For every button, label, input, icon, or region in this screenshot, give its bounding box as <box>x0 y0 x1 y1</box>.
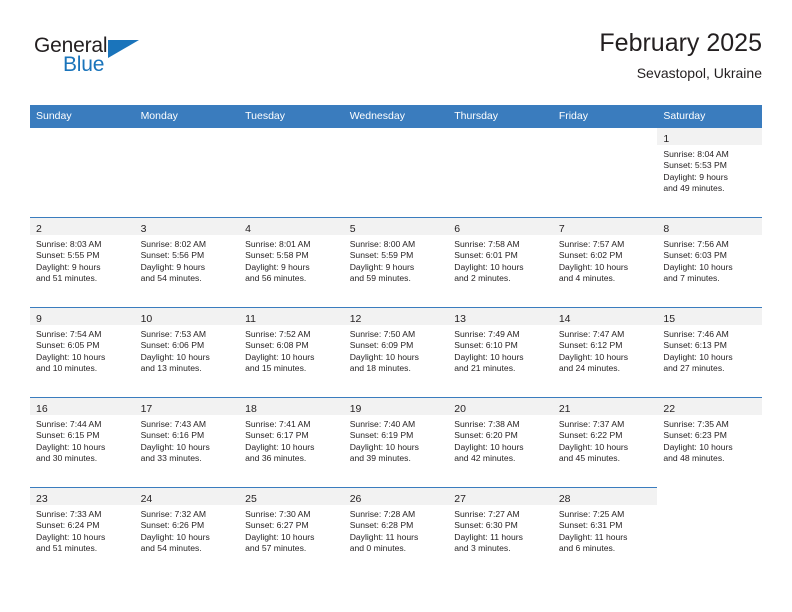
daylight-text-line1: Daylight: 9 hours <box>36 262 130 273</box>
calendar-cell-empty <box>135 128 240 218</box>
calendar-day-cell[interactable]: 17Sunrise: 7:43 AMSunset: 6:16 PMDayligh… <box>135 398 240 488</box>
day-number: 16 <box>36 403 48 415</box>
day-cell-inner: 15Sunrise: 7:46 AMSunset: 6:13 PMDayligh… <box>657 308 762 397</box>
sunrise-text: Sunrise: 7:38 AM <box>454 419 548 430</box>
day-number-band: 3 <box>135 218 240 235</box>
daylight-text-line1: Daylight: 10 hours <box>663 442 757 453</box>
day-cell-inner: 3Sunrise: 8:02 AMSunset: 5:56 PMDaylight… <box>135 218 240 307</box>
day-cell-details: Sunrise: 7:38 AMSunset: 6:20 PMDaylight:… <box>448 415 553 465</box>
day-cell-details: Sunrise: 7:47 AMSunset: 6:12 PMDaylight:… <box>553 325 658 375</box>
day-number: 15 <box>663 313 675 325</box>
day-number: 12 <box>350 313 362 325</box>
sunrise-text: Sunrise: 7:49 AM <box>454 329 548 340</box>
daylight-text-line1: Daylight: 10 hours <box>559 442 653 453</box>
day-number-band: 6 <box>448 218 553 235</box>
day-cell-details: Sunrise: 8:03 AMSunset: 5:55 PMDaylight:… <box>30 235 135 285</box>
daylight-text-line2: and 0 minutes. <box>350 543 444 554</box>
day-cell-details: Sunrise: 7:46 AMSunset: 6:13 PMDaylight:… <box>657 325 762 375</box>
sunrise-text: Sunrise: 8:00 AM <box>350 239 444 250</box>
day-cell-inner: 5Sunrise: 8:00 AMSunset: 5:59 PMDaylight… <box>344 218 449 307</box>
day-cell-inner: 16Sunrise: 7:44 AMSunset: 6:15 PMDayligh… <box>30 398 135 487</box>
calendar-cell-empty <box>553 128 658 218</box>
sunset-text: Sunset: 6:20 PM <box>454 430 548 441</box>
daylight-text-line2: and 51 minutes. <box>36 273 130 284</box>
day-cell-inner: 8Sunrise: 7:56 AMSunset: 6:03 PMDaylight… <box>657 218 762 307</box>
day-number: 1 <box>663 133 669 145</box>
weekday-header-friday: Friday <box>553 105 658 128</box>
day-number-band: 20 <box>448 398 553 415</box>
calendar-day-cell[interactable]: 23Sunrise: 7:33 AMSunset: 6:24 PMDayligh… <box>30 488 135 578</box>
sunrise-text: Sunrise: 7:58 AM <box>454 239 548 250</box>
day-number: 28 <box>559 493 571 505</box>
day-number: 13 <box>454 313 466 325</box>
day-number-band: 1 <box>657 128 762 145</box>
day-number: 14 <box>559 313 571 325</box>
calendar-day-cell[interactable]: 27Sunrise: 7:27 AMSunset: 6:30 PMDayligh… <box>448 488 553 578</box>
day-cell-details: Sunrise: 7:40 AMSunset: 6:19 PMDaylight:… <box>344 415 449 465</box>
day-cell-details: Sunrise: 7:25 AMSunset: 6:31 PMDaylight:… <box>553 505 658 555</box>
calendar-cell-empty <box>344 128 449 218</box>
calendar-day-cell[interactable]: 26Sunrise: 7:28 AMSunset: 6:28 PMDayligh… <box>344 488 449 578</box>
daylight-text-line2: and 7 minutes. <box>663 273 757 284</box>
day-number-band: 7 <box>553 218 658 235</box>
day-cell-details: Sunrise: 7:57 AMSunset: 6:02 PMDaylight:… <box>553 235 658 285</box>
day-number-band: 21 <box>553 398 658 415</box>
day-number: 19 <box>350 403 362 415</box>
calendar-cell-empty <box>448 128 553 218</box>
day-number-band: 15 <box>657 308 762 325</box>
day-number-band: 16 <box>30 398 135 415</box>
day-cell-inner: 28Sunrise: 7:25 AMSunset: 6:31 PMDayligh… <box>553 488 658 577</box>
day-number-band: 28 <box>553 488 658 505</box>
day-number: 27 <box>454 493 466 505</box>
day-cell-details: Sunrise: 7:33 AMSunset: 6:24 PMDaylight:… <box>30 505 135 555</box>
sunrise-text: Sunrise: 7:54 AM <box>36 329 130 340</box>
day-cell-details: Sunrise: 7:30 AMSunset: 6:27 PMDaylight:… <box>239 505 344 555</box>
calendar-day-cell[interactable]: 14Sunrise: 7:47 AMSunset: 6:12 PMDayligh… <box>553 308 658 398</box>
sunrise-text: Sunrise: 7:43 AM <box>141 419 235 430</box>
sunset-text: Sunset: 5:55 PM <box>36 250 130 261</box>
day-cell-details: Sunrise: 7:37 AMSunset: 6:22 PMDaylight:… <box>553 415 658 465</box>
day-number-band: 18 <box>239 398 344 415</box>
calendar-day-cell[interactable]: 3Sunrise: 8:02 AMSunset: 5:56 PMDaylight… <box>135 218 240 308</box>
sunrise-text: Sunrise: 7:56 AM <box>663 239 757 250</box>
day-number-band: 14 <box>553 308 658 325</box>
daylight-text-line1: Daylight: 11 hours <box>350 532 444 543</box>
weekday-header-monday: Monday <box>135 105 240 128</box>
day-number: 21 <box>559 403 571 415</box>
sunset-text: Sunset: 6:05 PM <box>36 340 130 351</box>
calendar-day-cell[interactable]: 12Sunrise: 7:50 AMSunset: 6:09 PMDayligh… <box>344 308 449 398</box>
sunset-text: Sunset: 6:19 PM <box>350 430 444 441</box>
daylight-text-line1: Daylight: 10 hours <box>141 442 235 453</box>
day-cell-details: Sunrise: 7:44 AMSunset: 6:15 PMDaylight:… <box>30 415 135 465</box>
sunrise-text: Sunrise: 8:03 AM <box>36 239 130 250</box>
sunset-text: Sunset: 6:31 PM <box>559 520 653 531</box>
day-cell-details: Sunrise: 8:00 AMSunset: 5:59 PMDaylight:… <box>344 235 449 285</box>
day-cell-details: Sunrise: 7:28 AMSunset: 6:28 PMDaylight:… <box>344 505 449 555</box>
day-number: 26 <box>350 493 362 505</box>
calendar-day-cell[interactable]: 7Sunrise: 7:57 AMSunset: 6:02 PMDaylight… <box>553 218 658 308</box>
day-number: 3 <box>141 223 147 235</box>
sunset-text: Sunset: 6:12 PM <box>559 340 653 351</box>
daylight-text-line2: and 27 minutes. <box>663 363 757 374</box>
sunrise-text: Sunrise: 7:33 AM <box>36 509 130 520</box>
logo-triangle-icon <box>108 40 139 58</box>
day-cell-inner: 22Sunrise: 7:35 AMSunset: 6:23 PMDayligh… <box>657 398 762 487</box>
calendar-day-cell[interactable]: 11Sunrise: 7:52 AMSunset: 6:08 PMDayligh… <box>239 308 344 398</box>
sunrise-text: Sunrise: 8:01 AM <box>245 239 339 250</box>
sunrise-text: Sunrise: 7:40 AM <box>350 419 444 430</box>
title-block: February 2025 Sevastopol, Ukraine <box>599 28 762 83</box>
day-cell-details: Sunrise: 7:53 AMSunset: 6:06 PMDaylight:… <box>135 325 240 375</box>
calendar-day-cell[interactable]: 1Sunrise: 8:04 AMSunset: 5:53 PMDaylight… <box>657 128 762 218</box>
sunset-text: Sunset: 6:16 PM <box>141 430 235 441</box>
daylight-text-line2: and 42 minutes. <box>454 453 548 464</box>
day-cell-details: Sunrise: 7:54 AMSunset: 6:05 PMDaylight:… <box>30 325 135 375</box>
day-cell-details: Sunrise: 8:04 AMSunset: 5:53 PMDaylight:… <box>657 145 762 195</box>
calendar-day-cell[interactable]: 16Sunrise: 7:44 AMSunset: 6:15 PMDayligh… <box>30 398 135 488</box>
calendar-day-cell[interactable]: 4Sunrise: 8:01 AMSunset: 5:58 PMDaylight… <box>239 218 344 308</box>
day-cell-details: Sunrise: 7:52 AMSunset: 6:08 PMDaylight:… <box>239 325 344 375</box>
calendar-day-cell[interactable]: 15Sunrise: 7:46 AMSunset: 6:13 PMDayligh… <box>657 308 762 398</box>
daylight-text-line2: and 59 minutes. <box>350 273 444 284</box>
day-number: 20 <box>454 403 466 415</box>
day-number-band: 19 <box>344 398 449 415</box>
daylight-text-line2: and 48 minutes. <box>663 453 757 464</box>
calendar-week-row: 1Sunrise: 8:04 AMSunset: 5:53 PMDaylight… <box>30 128 762 218</box>
calendar-body: 1Sunrise: 8:04 AMSunset: 5:53 PMDaylight… <box>30 128 762 578</box>
sunset-text: Sunset: 6:10 PM <box>454 340 548 351</box>
calendar-cell-empty <box>657 488 762 578</box>
day-cell-details: Sunrise: 7:27 AMSunset: 6:30 PMDaylight:… <box>448 505 553 555</box>
daylight-text-line1: Daylight: 10 hours <box>454 442 548 453</box>
day-cell-inner: 14Sunrise: 7:47 AMSunset: 6:12 PMDayligh… <box>553 308 658 397</box>
calendar-week-row: 16Sunrise: 7:44 AMSunset: 6:15 PMDayligh… <box>30 398 762 488</box>
day-cell-details: Sunrise: 7:50 AMSunset: 6:09 PMDaylight:… <box>344 325 449 375</box>
day-cell-inner: 17Sunrise: 7:43 AMSunset: 6:16 PMDayligh… <box>135 398 240 487</box>
day-cell-details: Sunrise: 7:41 AMSunset: 6:17 PMDaylight:… <box>239 415 344 465</box>
day-number: 22 <box>663 403 675 415</box>
daylight-text-line1: Daylight: 10 hours <box>559 352 653 363</box>
daylight-text-line1: Daylight: 10 hours <box>36 532 130 543</box>
day-number: 7 <box>559 223 565 235</box>
daylight-text-line2: and 33 minutes. <box>141 453 235 464</box>
sunset-text: Sunset: 6:27 PM <box>245 520 339 531</box>
calendar-day-cell[interactable]: 22Sunrise: 7:35 AMSunset: 6:23 PMDayligh… <box>657 398 762 488</box>
sunset-text: Sunset: 6:03 PM <box>663 250 757 261</box>
page-header: General Blue February 2025 Sevastopol, U… <box>30 28 762 96</box>
day-cell-inner: 20Sunrise: 7:38 AMSunset: 6:20 PMDayligh… <box>448 398 553 487</box>
daylight-text-line2: and 10 minutes. <box>36 363 130 374</box>
sunrise-text: Sunrise: 7:47 AM <box>559 329 653 340</box>
daylight-text-line2: and 51 minutes. <box>36 543 130 554</box>
sunrise-text: Sunrise: 7:30 AM <box>245 509 339 520</box>
sunset-text: Sunset: 6:13 PM <box>663 340 757 351</box>
day-cell-inner: 21Sunrise: 7:37 AMSunset: 6:22 PMDayligh… <box>553 398 658 487</box>
day-cell-inner: 19Sunrise: 7:40 AMSunset: 6:19 PMDayligh… <box>344 398 449 487</box>
day-cell-inner: 18Sunrise: 7:41 AMSunset: 6:17 PMDayligh… <box>239 398 344 487</box>
sunset-text: Sunset: 6:09 PM <box>350 340 444 351</box>
day-number-band: 22 <box>657 398 762 415</box>
day-cell-details: Sunrise: 7:49 AMSunset: 6:10 PMDaylight:… <box>448 325 553 375</box>
day-number: 10 <box>141 313 153 325</box>
sunset-text: Sunset: 5:58 PM <box>245 250 339 261</box>
calendar-day-cell[interactable]: 9Sunrise: 7:54 AMSunset: 6:05 PMDaylight… <box>30 308 135 398</box>
daylight-text-line1: Daylight: 10 hours <box>141 532 235 543</box>
daylight-text-line2: and 56 minutes. <box>245 273 339 284</box>
sunrise-text: Sunrise: 7:53 AM <box>141 329 235 340</box>
day-cell-inner: 26Sunrise: 7:28 AMSunset: 6:28 PMDayligh… <box>344 488 449 577</box>
sunrise-text: Sunrise: 7:37 AM <box>559 419 653 430</box>
calendar-day-cell[interactable]: 5Sunrise: 8:00 AMSunset: 5:59 PMDaylight… <box>344 218 449 308</box>
daylight-text-line1: Daylight: 9 hours <box>663 172 757 183</box>
day-number-band: 9 <box>30 308 135 325</box>
day-cell-details: Sunrise: 7:35 AMSunset: 6:23 PMDaylight:… <box>657 415 762 465</box>
daylight-text-line1: Daylight: 10 hours <box>350 352 444 363</box>
weekday-header-thursday: Thursday <box>448 105 553 128</box>
sunset-text: Sunset: 5:59 PM <box>350 250 444 261</box>
daylight-text-line2: and 4 minutes. <box>559 273 653 284</box>
calendar-cell-empty <box>30 128 135 218</box>
sunrise-text: Sunrise: 8:02 AM <box>141 239 235 250</box>
day-cell-inner: 4Sunrise: 8:01 AMSunset: 5:58 PMDaylight… <box>239 218 344 307</box>
daylight-text-line2: and 2 minutes. <box>454 273 548 284</box>
sunset-text: Sunset: 6:28 PM <box>350 520 444 531</box>
daylight-text-line1: Daylight: 9 hours <box>141 262 235 273</box>
day-cell-details: Sunrise: 7:43 AMSunset: 6:16 PMDaylight:… <box>135 415 240 465</box>
calendar-day-cell[interactable]: 24Sunrise: 7:32 AMSunset: 6:26 PMDayligh… <box>135 488 240 578</box>
weekday-header-sunday: Sunday <box>30 105 135 128</box>
weekday-header-tuesday: Tuesday <box>239 105 344 128</box>
day-cell-details: Sunrise: 7:32 AMSunset: 6:26 PMDaylight:… <box>135 505 240 555</box>
daylight-text-line1: Daylight: 10 hours <box>454 352 548 363</box>
day-number-band: 25 <box>239 488 344 505</box>
daylight-text-line1: Daylight: 10 hours <box>245 532 339 543</box>
day-cell-inner: 11Sunrise: 7:52 AMSunset: 6:08 PMDayligh… <box>239 308 344 397</box>
day-cell-inner: 25Sunrise: 7:30 AMSunset: 6:27 PMDayligh… <box>239 488 344 577</box>
day-number-band: 27 <box>448 488 553 505</box>
weekday-header-row: Sunday Monday Tuesday Wednesday Thursday… <box>30 105 762 128</box>
daylight-text-line2: and 24 minutes. <box>559 363 653 374</box>
calendar-day-cell[interactable]: 10Sunrise: 7:53 AMSunset: 6:06 PMDayligh… <box>135 308 240 398</box>
sunset-text: Sunset: 6:08 PM <box>245 340 339 351</box>
day-number-band: 13 <box>448 308 553 325</box>
daylight-text-line2: and 54 minutes. <box>141 543 235 554</box>
general-blue-logo[interactable]: General Blue <box>34 34 204 88</box>
calendar-day-cell[interactable]: 19Sunrise: 7:40 AMSunset: 6:19 PMDayligh… <box>344 398 449 488</box>
location-subtitle: Sevastopol, Ukraine <box>599 63 762 83</box>
sunset-text: Sunset: 6:22 PM <box>559 430 653 441</box>
daylight-text-line1: Daylight: 11 hours <box>559 532 653 543</box>
sunrise-text: Sunrise: 7:44 AM <box>36 419 130 430</box>
sunrise-text: Sunrise: 8:04 AM <box>663 149 757 160</box>
daylight-text-line1: Daylight: 11 hours <box>454 532 548 543</box>
daylight-text-line1: Daylight: 10 hours <box>36 352 130 363</box>
day-number-band: 24 <box>135 488 240 505</box>
day-number: 9 <box>36 313 42 325</box>
daylight-text-line2: and 6 minutes. <box>559 543 653 554</box>
calendar-week-row: 9Sunrise: 7:54 AMSunset: 6:05 PMDaylight… <box>30 308 762 398</box>
sunrise-text: Sunrise: 7:27 AM <box>454 509 548 520</box>
daylight-text-line2: and 49 minutes. <box>663 183 757 194</box>
day-cell-inner: 7Sunrise: 7:57 AMSunset: 6:02 PMDaylight… <box>553 218 658 307</box>
day-number: 25 <box>245 493 257 505</box>
daylight-text-line1: Daylight: 9 hours <box>245 262 339 273</box>
calendar-page: General Blue February 2025 Sevastopol, U… <box>0 0 792 612</box>
sunrise-text: Sunrise: 7:57 AM <box>559 239 653 250</box>
calendar-day-cell[interactable]: 18Sunrise: 7:41 AMSunset: 6:17 PMDayligh… <box>239 398 344 488</box>
day-number: 5 <box>350 223 356 235</box>
daylight-text-line2: and 3 minutes. <box>454 543 548 554</box>
sunrise-text: Sunrise: 7:28 AM <box>350 509 444 520</box>
daylight-text-line2: and 54 minutes. <box>141 273 235 284</box>
sunset-text: Sunset: 6:17 PM <box>245 430 339 441</box>
sunrise-text: Sunrise: 7:35 AM <box>663 419 757 430</box>
daylight-text-line2: and 18 minutes. <box>350 363 444 374</box>
daylight-text-line1: Daylight: 10 hours <box>36 442 130 453</box>
day-cell-inner: 6Sunrise: 7:58 AMSunset: 6:01 PMDaylight… <box>448 218 553 307</box>
calendar-week-row: 23Sunrise: 7:33 AMSunset: 6:24 PMDayligh… <box>30 488 762 578</box>
calendar-cell-empty <box>239 128 344 218</box>
sunset-text: Sunset: 6:24 PM <box>36 520 130 531</box>
day-cell-inner: 23Sunrise: 7:33 AMSunset: 6:24 PMDayligh… <box>30 488 135 577</box>
day-cell-inner: 1Sunrise: 8:04 AMSunset: 5:53 PMDaylight… <box>657 128 762 217</box>
day-number: 17 <box>141 403 153 415</box>
sunset-text: Sunset: 6:30 PM <box>454 520 548 531</box>
sunset-text: Sunset: 6:06 PM <box>141 340 235 351</box>
calendar-day-cell[interactable]: 28Sunrise: 7:25 AMSunset: 6:31 PMDayligh… <box>553 488 658 578</box>
daylight-text-line2: and 57 minutes. <box>245 543 339 554</box>
logo-text-blue: Blue <box>63 53 104 77</box>
daylight-text-line1: Daylight: 10 hours <box>245 442 339 453</box>
day-number: 4 <box>245 223 251 235</box>
day-number-band: 17 <box>135 398 240 415</box>
daylight-text-line2: and 21 minutes. <box>454 363 548 374</box>
day-cell-inner: 9Sunrise: 7:54 AMSunset: 6:05 PMDaylight… <box>30 308 135 397</box>
sunset-text: Sunset: 5:53 PM <box>663 160 757 171</box>
day-number-band: 23 <box>30 488 135 505</box>
sunrise-text: Sunrise: 7:52 AM <box>245 329 339 340</box>
daylight-text-line2: and 13 minutes. <box>141 363 235 374</box>
sunset-text: Sunset: 6:23 PM <box>663 430 757 441</box>
day-cell-details: Sunrise: 8:01 AMSunset: 5:58 PMDaylight:… <box>239 235 344 285</box>
daylight-text-line1: Daylight: 10 hours <box>663 262 757 273</box>
daylight-text-line2: and 30 minutes. <box>36 453 130 464</box>
daylight-text-line1: Daylight: 10 hours <box>245 352 339 363</box>
calendar-day-cell[interactable]: 8Sunrise: 7:56 AMSunset: 6:03 PMDaylight… <box>657 218 762 308</box>
day-number-band: 10 <box>135 308 240 325</box>
day-number: 2 <box>36 223 42 235</box>
daylight-text-line1: Daylight: 9 hours <box>350 262 444 273</box>
page-title: February 2025 <box>599 28 762 58</box>
day-cell-inner: 13Sunrise: 7:49 AMSunset: 6:10 PMDayligh… <box>448 308 553 397</box>
sunrise-text: Sunrise: 7:46 AM <box>663 329 757 340</box>
daylight-text-line2: and 39 minutes. <box>350 453 444 464</box>
sunrise-text: Sunrise: 7:50 AM <box>350 329 444 340</box>
weekday-header-wednesday: Wednesday <box>344 105 449 128</box>
daylight-text-line1: Daylight: 10 hours <box>141 352 235 363</box>
day-number: 24 <box>141 493 153 505</box>
day-number-band: 12 <box>344 308 449 325</box>
day-number: 8 <box>663 223 669 235</box>
daylight-text-line1: Daylight: 10 hours <box>454 262 548 273</box>
day-cell-inner: 24Sunrise: 7:32 AMSunset: 6:26 PMDayligh… <box>135 488 240 577</box>
daylight-text-line2: and 36 minutes. <box>245 453 339 464</box>
day-number: 11 <box>245 313 256 325</box>
sunrise-text: Sunrise: 7:25 AM <box>559 509 653 520</box>
day-cell-inner: 27Sunrise: 7:27 AMSunset: 6:30 PMDayligh… <box>448 488 553 577</box>
calendar-week-row: 2Sunrise: 8:03 AMSunset: 5:55 PMDaylight… <box>30 218 762 308</box>
day-number-band: 2 <box>30 218 135 235</box>
day-cell-details: Sunrise: 8:02 AMSunset: 5:56 PMDaylight:… <box>135 235 240 285</box>
daylight-text-line1: Daylight: 10 hours <box>663 352 757 363</box>
day-cell-details: Sunrise: 7:58 AMSunset: 6:01 PMDaylight:… <box>448 235 553 285</box>
day-number-band: 8 <box>657 218 762 235</box>
sunset-text: Sunset: 6:02 PM <box>559 250 653 261</box>
day-cell-inner: 2Sunrise: 8:03 AMSunset: 5:55 PMDaylight… <box>30 218 135 307</box>
daylight-text-line2: and 45 minutes. <box>559 453 653 464</box>
sunset-text: Sunset: 6:01 PM <box>454 250 548 261</box>
day-number: 23 <box>36 493 48 505</box>
daylight-text-line1: Daylight: 10 hours <box>350 442 444 453</box>
sunset-text: Sunset: 6:26 PM <box>141 520 235 531</box>
sunset-text: Sunset: 5:56 PM <box>141 250 235 261</box>
calendar-day-cell[interactable]: 13Sunrise: 7:49 AMSunset: 6:10 PMDayligh… <box>448 308 553 398</box>
daylight-text-line2: and 15 minutes. <box>245 363 339 374</box>
weekday-header-saturday: Saturday <box>657 105 762 128</box>
calendar-day-cell[interactable]: 21Sunrise: 7:37 AMSunset: 6:22 PMDayligh… <box>553 398 658 488</box>
day-cell-details: Sunrise: 7:56 AMSunset: 6:03 PMDaylight:… <box>657 235 762 285</box>
day-cell-inner: 10Sunrise: 7:53 AMSunset: 6:06 PMDayligh… <box>135 308 240 397</box>
day-number: 18 <box>245 403 257 415</box>
sunrise-text: Sunrise: 7:32 AM <box>141 509 235 520</box>
day-number-band: 11 <box>239 308 344 325</box>
day-cell-inner: 12Sunrise: 7:50 AMSunset: 6:09 PMDayligh… <box>344 308 449 397</box>
calendar-day-cell[interactable]: 20Sunrise: 7:38 AMSunset: 6:20 PMDayligh… <box>448 398 553 488</box>
sunset-text: Sunset: 6:15 PM <box>36 430 130 441</box>
calendar-day-cell[interactable]: 2Sunrise: 8:03 AMSunset: 5:55 PMDaylight… <box>30 218 135 308</box>
calendar-day-cell[interactable]: 25Sunrise: 7:30 AMSunset: 6:27 PMDayligh… <box>239 488 344 578</box>
day-number-band: 4 <box>239 218 344 235</box>
calendar-grid: Sunday Monday Tuesday Wednesday Thursday… <box>30 105 762 577</box>
day-number-band: 26 <box>344 488 449 505</box>
calendar-day-cell[interactable]: 6Sunrise: 7:58 AMSunset: 6:01 PMDaylight… <box>448 218 553 308</box>
daylight-text-line1: Daylight: 10 hours <box>559 262 653 273</box>
day-number-band: 5 <box>344 218 449 235</box>
day-number: 6 <box>454 223 460 235</box>
sunrise-text: Sunrise: 7:41 AM <box>245 419 339 430</box>
